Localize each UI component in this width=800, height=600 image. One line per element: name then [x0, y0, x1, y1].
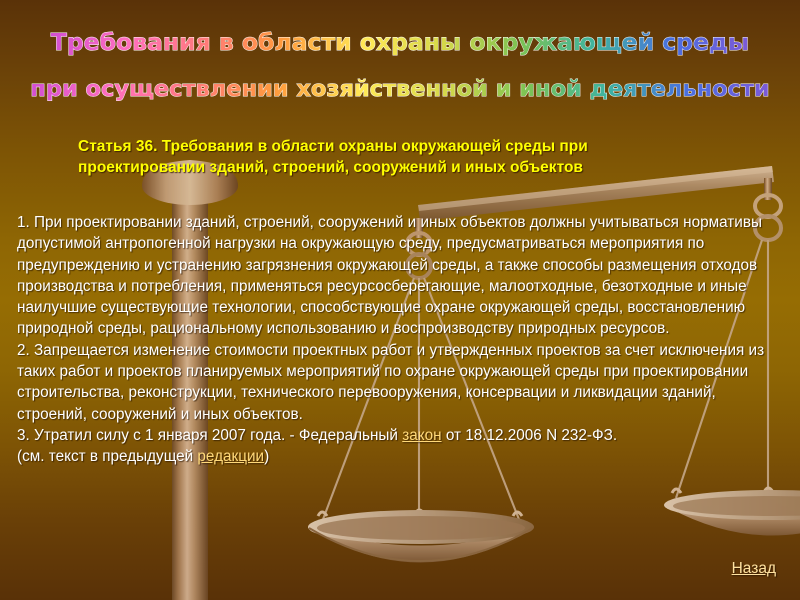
paragraph-2: 2. Запрещается изменение стоимости проек…: [17, 340, 787, 425]
back-link[interactable]: Назад: [732, 560, 776, 578]
svg-text:Требования в области охраны ок: Требования в области охраны окружающей с…: [51, 28, 749, 56]
paragraph-4: (см. текст в предыдущей редакции): [17, 446, 787, 467]
presentation-slide: Требования в области охраны окружающей с…: [0, 0, 800, 600]
federal-law-link[interactable]: закон: [402, 427, 441, 444]
previous-revision-link[interactable]: редакции: [197, 448, 264, 465]
paragraph-4-prefix: (см. текст в предыдущей: [17, 448, 197, 465]
paragraph-1: 1. При проектировании зданий, строений, …: [17, 212, 787, 340]
paragraph-3-suffix: от 18.12.2006 N 232-ФЗ.: [442, 427, 618, 444]
article-body: 1. При проектировании зданий, строений, …: [17, 212, 787, 468]
paragraph-4-suffix: ): [264, 448, 269, 465]
svg-text:при осуществлении хозяйственно: при осуществлении хозяйственной и иной д…: [30, 76, 769, 102]
paragraph-3: 3. Утратил силу с 1 января 2007 года. - …: [17, 425, 787, 446]
slide-title: Требования в области охраны окружающей с…: [0, 16, 800, 108]
title-line-2: при осуществлении хозяйственной и иной д…: [0, 62, 800, 108]
paragraph-3-prefix: 3. Утратил силу с 1 января 2007 года. - …: [17, 427, 402, 444]
article-heading: Статья 36. Требования в области охраны о…: [78, 136, 714, 178]
title-line-1: Требования в области охраны окружающей с…: [0, 16, 800, 62]
